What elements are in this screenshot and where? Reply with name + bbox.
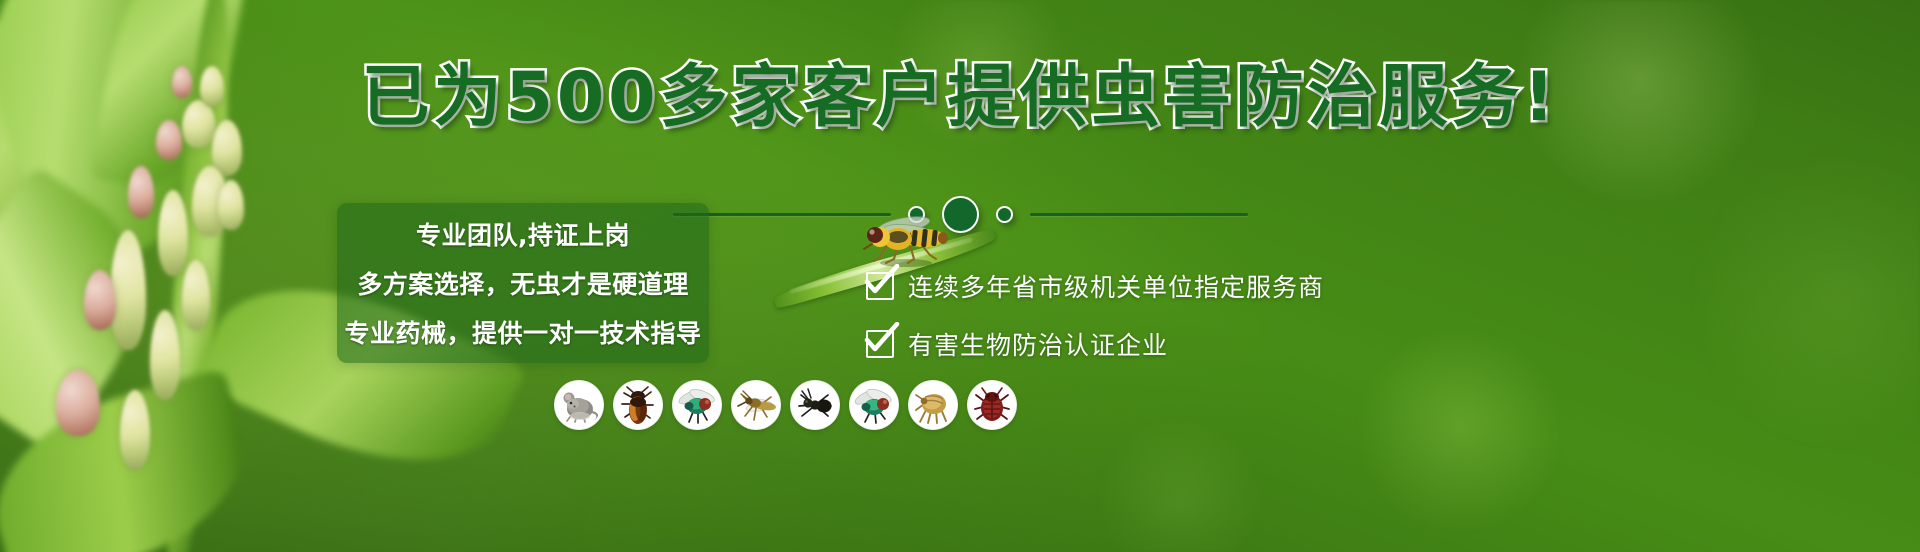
checkbox-checked-icon [866, 330, 894, 358]
flea-icon[interactable] [909, 381, 957, 429]
flower-bud [84, 270, 116, 330]
divider-dot-small-right [996, 206, 1013, 223]
pest-type-icon-row [555, 375, 1035, 435]
bedbug-icon[interactable] [968, 381, 1016, 429]
fly-icon[interactable] [673, 381, 721, 429]
info-line-1: 专业团队,持证上岗 [416, 216, 630, 252]
list-item: 有害生物防治认证企业 [866, 326, 1626, 362]
info-line-3: 专业药械，提供一对一技术指导 [345, 314, 702, 350]
checkbox-checked-icon [866, 272, 894, 300]
credential-label: 连续多年省市级机关单位指定服务商 [908, 268, 1324, 304]
flower-bud [56, 370, 100, 436]
credential-label: 有害生物防治认证企业 [908, 326, 1168, 362]
ant-icon[interactable] [791, 381, 839, 429]
cockroach-icon[interactable] [614, 381, 662, 429]
page-title: 已为500多家客户提供虫害防治服务! [0, 64, 1920, 132]
credentials-list: 连续多年省市级机关单位指定服务商 有害生物防治认证企业 [866, 268, 1626, 362]
mouse-icon[interactable] [555, 381, 603, 429]
value-proposition-box: 专业团队,持证上岗 多方案选择，无虫才是硬道理 专业药械，提供一对一技术指导 [337, 203, 709, 363]
blowfly-icon[interactable] [850, 381, 898, 429]
divider-rule-right [1030, 213, 1248, 216]
list-item: 连续多年省市级机关单位指定服务商 [866, 268, 1626, 304]
info-line-2: 多方案选择，无虫才是硬道理 [357, 265, 689, 301]
pest-control-hero-banner: 已为500多家客户提供虫害防治服务! [0, 0, 1920, 552]
mosquito-icon[interactable] [732, 381, 780, 429]
